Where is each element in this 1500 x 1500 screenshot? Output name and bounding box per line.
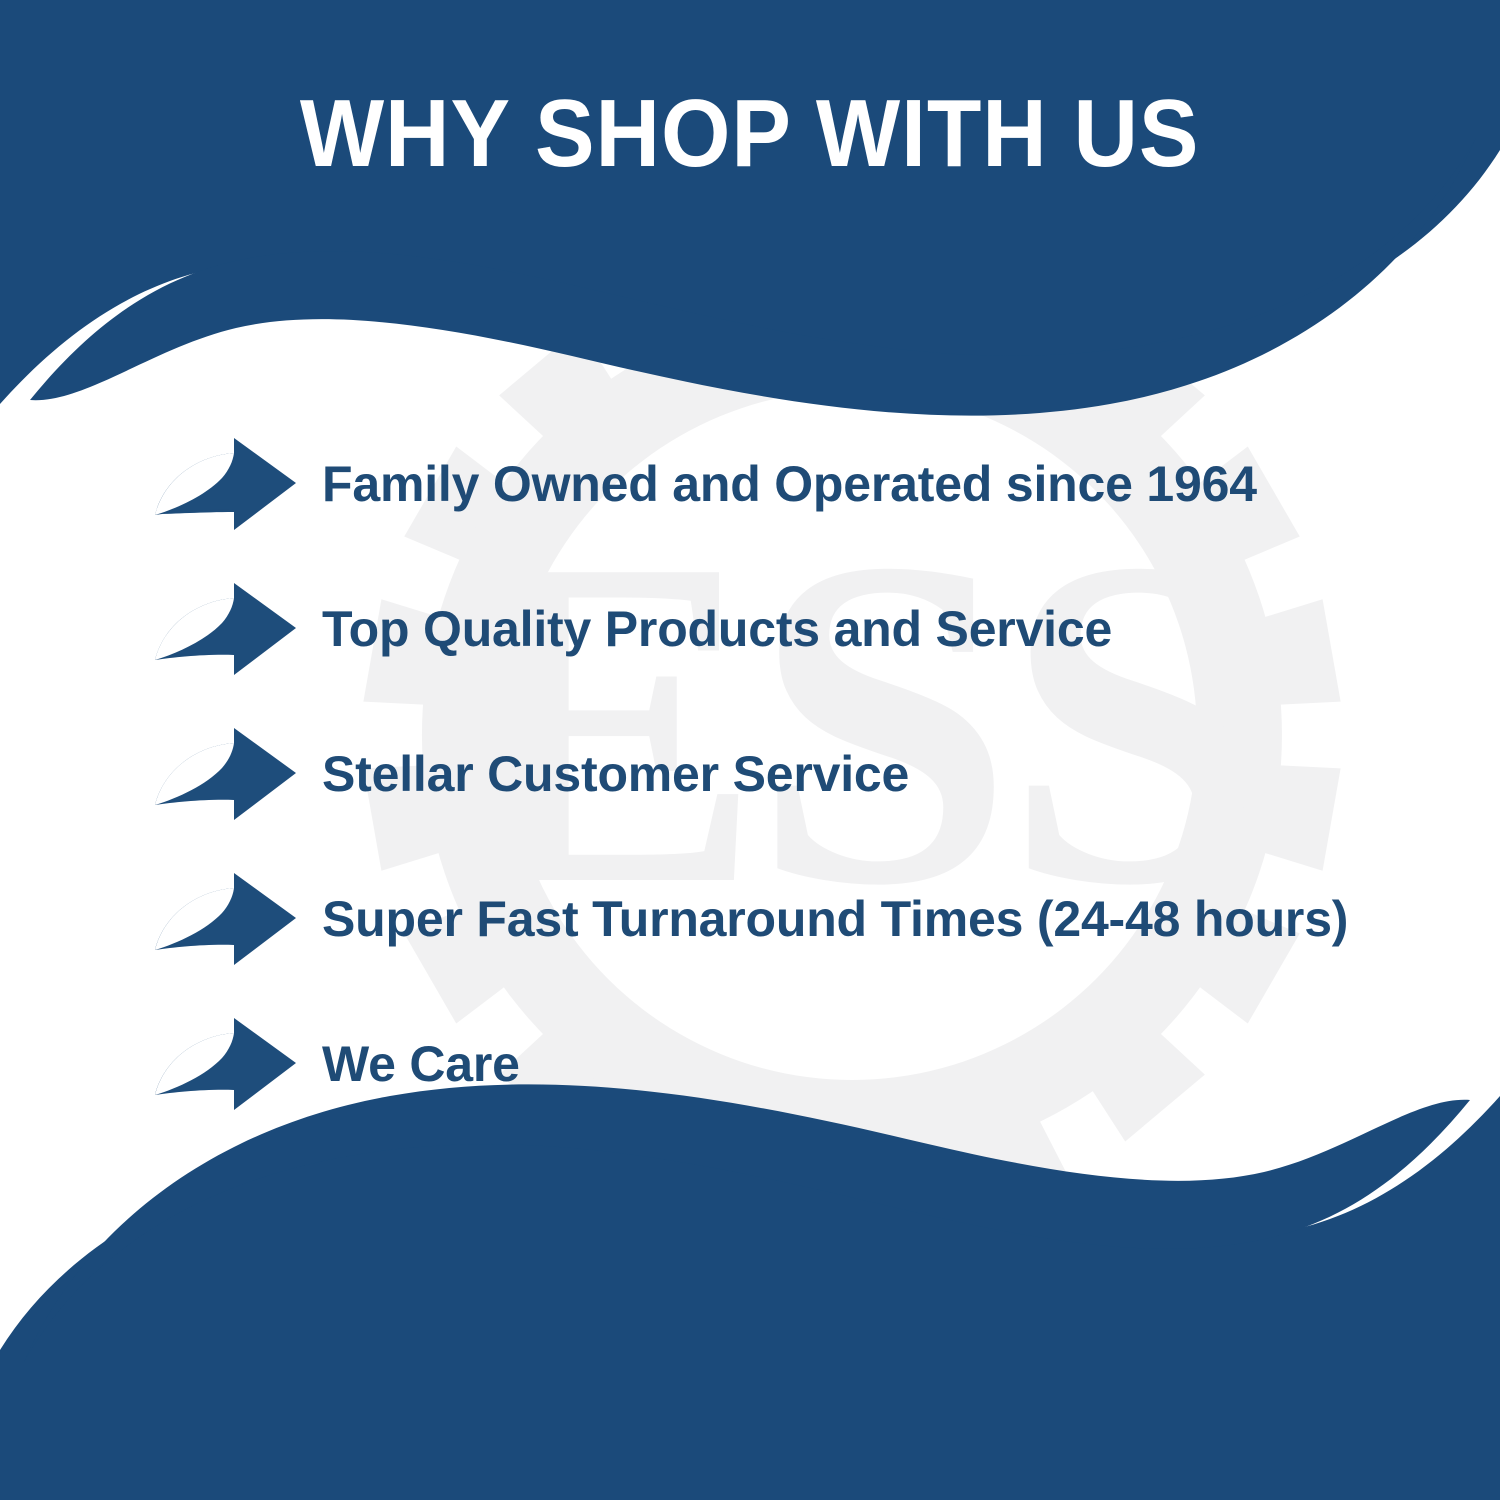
curved-arrow-right-icon: [150, 726, 300, 822]
page-title: WHY SHOP WITH US: [300, 86, 1199, 182]
list-item: We Care: [0, 1010, 1500, 1118]
list-item: Stellar Customer Service: [0, 720, 1500, 828]
benefit-label: We Care: [322, 1038, 520, 1091]
page-title-container: WHY SHOP WITH US: [0, 22, 1500, 247]
list-item: Super Fast Turnaround Times (24-48 hours…: [0, 865, 1500, 973]
why-shop-with-us-poster: ESS WHY SHOP WITH US: [0, 0, 1500, 1500]
benefit-label: Super Fast Turnaround Times (24-48 hours…: [322, 893, 1348, 946]
curved-arrow-right-icon: [150, 581, 300, 677]
benefit-label: Top Quality Products and Service: [322, 603, 1112, 656]
curved-arrow-right-icon: [150, 871, 300, 967]
curved-arrow-right-icon: [150, 436, 300, 532]
benefit-label: Family Owned and Operated since 1964: [322, 458, 1257, 511]
benefits-list: Family Owned and Operated since 1964 Top…: [0, 430, 1500, 1118]
curved-arrow-right-icon: [150, 1016, 300, 1112]
benefit-label: Stellar Customer Service: [322, 748, 909, 801]
list-item: Top Quality Products and Service: [0, 575, 1500, 683]
list-item: Family Owned and Operated since 1964: [0, 430, 1500, 538]
